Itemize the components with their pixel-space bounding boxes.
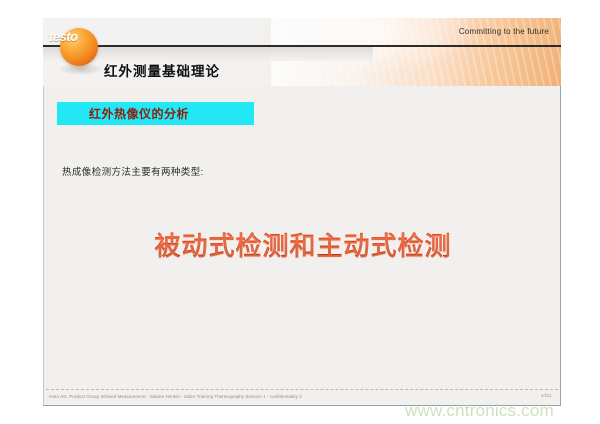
page-canvas: testo Committing to the future 红外测量基础理论 … — [0, 0, 600, 424]
footer-page-number: 4/221 — [541, 393, 552, 398]
footer-source-note: testo AG, Product Group Infrared Measure… — [49, 394, 302, 399]
slide-header: testo Committing to the future 红外测量基础理论 — [43, 18, 561, 86]
presentation-slide: testo Committing to the future 红外测量基础理论 … — [43, 18, 561, 406]
slide-headline: 被动式检测和主动式检测 — [44, 226, 562, 263]
slide-subtitle: 红外热像仪的分析 — [89, 105, 189, 122]
slide-lead-text: 热成像检测方法主要有两种类型: — [62, 164, 204, 178]
footer-divider — [46, 389, 558, 390]
brand-tagline: Committing to the future — [459, 27, 549, 36]
testo-logo-wordmark: testo — [49, 30, 101, 44]
site-watermark: www.cntronics.com — [405, 401, 554, 421]
slide-content-panel: 红外热像仪的分析 热成像检测方法主要有两种类型: 被动式检测和主动式检测 tes… — [43, 86, 561, 406]
header-divider-rule — [43, 45, 561, 47]
slide-title: 红外测量基础理论 — [104, 60, 220, 80]
